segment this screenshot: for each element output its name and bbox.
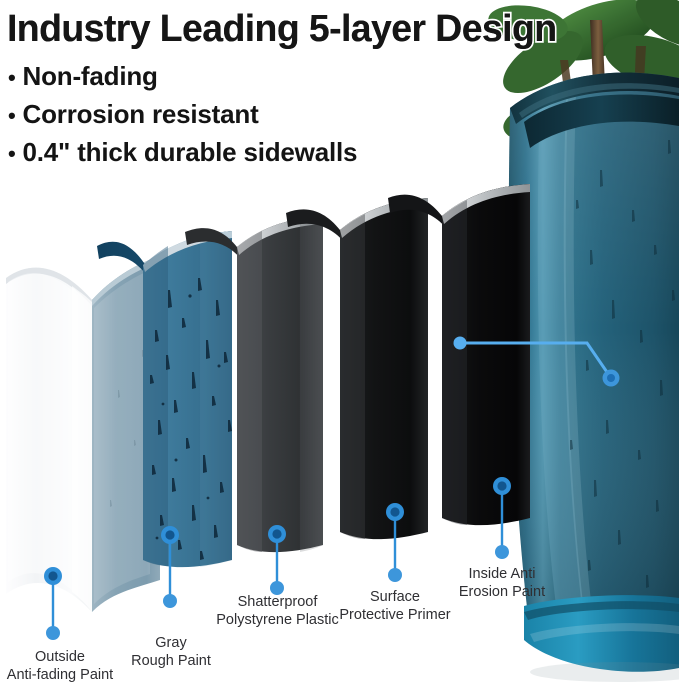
callout-line: Erosion Paint	[440, 583, 564, 601]
callout-line: Protective Primer	[327, 606, 463, 624]
callout-line: Gray	[112, 634, 230, 652]
callout-line: Outside	[0, 648, 120, 666]
product-infographic: Industry Leading 5-layer Design Industry…	[0, 0, 679, 693]
callout-line: Inside Anti	[440, 565, 564, 583]
callout-layer: Outside Anti-fading Paint Gray Rough Pai…	[0, 0, 679, 693]
callout-line: Rough Paint	[112, 652, 230, 670]
callout-gray-rough-paint-leader	[161, 526, 179, 608]
callout-surface-protective-primer-leader	[386, 503, 404, 582]
callout-line: Anti-fading Paint	[0, 666, 120, 684]
callout-label-inside-anti-erosion-paint: Inside Anti Erosion Paint	[440, 565, 564, 601]
callout-label-gray-rough-paint: Gray Rough Paint	[112, 634, 230, 670]
callout-inside-anti-erosion-paint-leader	[493, 477, 511, 559]
callout-label-outside-anti-fading-paint: Outside Anti-fading Paint	[0, 648, 120, 684]
callout-outside-anti-fading-paint-leader	[44, 567, 62, 640]
connector-inside-layer-to-planter	[454, 337, 620, 387]
callout-shatterproof-polystyrene-plastic-leader	[268, 525, 286, 595]
